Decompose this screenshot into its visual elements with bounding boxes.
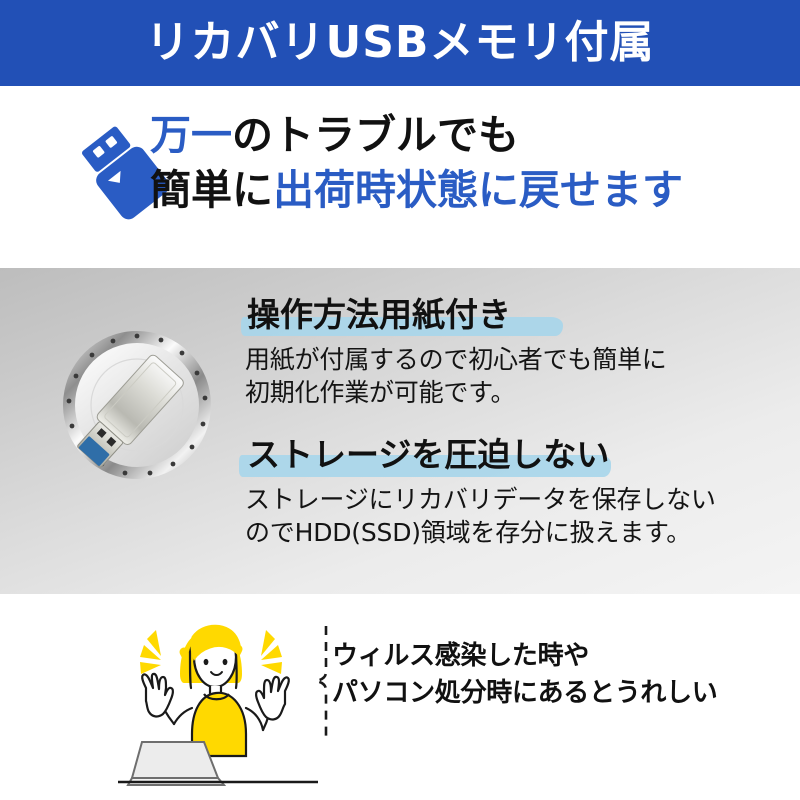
hero-line-2-accent: 出荷時状態に戻せます [273,166,683,214]
hero-line-1-plain: のトラブルでも [232,111,519,159]
feature-body: ストレージにリカバリデータを保存しない のでHDD(SSD)領域を存分に扱えます… [245,483,790,550]
header-banner: リカバリUSBメモリ付属 [0,0,800,86]
feature-heading: ストレージを圧迫しない [245,436,613,477]
feature-body-line: のでHDD(SSD)領域を存分に扱えます。 [245,516,790,550]
footer-line-1: ウィルス感染した時や [332,638,792,675]
hero-line-1-accent: 万一 [150,111,232,159]
feature-body: 用紙が付属するので初心者でも簡単に 初期化作業が可能です。 [245,343,790,410]
hero-line-1: 万一のトラブルでも [150,108,790,163]
feature-heading-text: ストレージを圧迫しない [247,435,609,474]
feature-block-1: 操作方法用紙付き 用紙が付属するので初心者でも簡単に 初期化作業が可能です。 [245,296,790,410]
footer-copy: ウィルス感染した時や パソコン処分時にあるとうれしい [332,638,792,712]
feature-body-line: ストレージにリカバリデータを保存しない [245,483,790,517]
feature-body-line: 初期化作業が可能です。 [245,376,790,410]
feature-heading: 操作方法用紙付き [245,296,515,337]
hero-line-2-plain: 簡単に [150,166,273,214]
features-section: 操作方法用紙付き 用紙が付属するので初心者でも簡単に 初期化作業が可能です。 ス… [0,268,800,594]
feature-heading-text: 操作方法用紙付き [247,295,511,334]
hero-copy: 万一のトラブルでも 簡単に出荷時状態に戻せます [150,108,790,219]
footer-line-2: パソコン処分時にあるとうれしい [332,675,792,712]
feature-body-line: 用紙が付属するので初心者でも簡単に [245,343,790,377]
page-title: リカバリUSBメモリ付属 [146,21,655,65]
footer-section: ウィルス感染した時や パソコン処分時にあるとうれしい [0,594,800,800]
hero-line-2: 簡単に出荷時状態に戻せます [150,163,790,218]
hero-section: 万一のトラブルでも 簡単に出荷時状態に戻せます [0,86,800,268]
feature-block-2: ストレージを圧迫しない ストレージにリカバリデータを保存しない のでHDD(SS… [245,436,790,550]
usb-memory-product-photo [42,310,232,500]
